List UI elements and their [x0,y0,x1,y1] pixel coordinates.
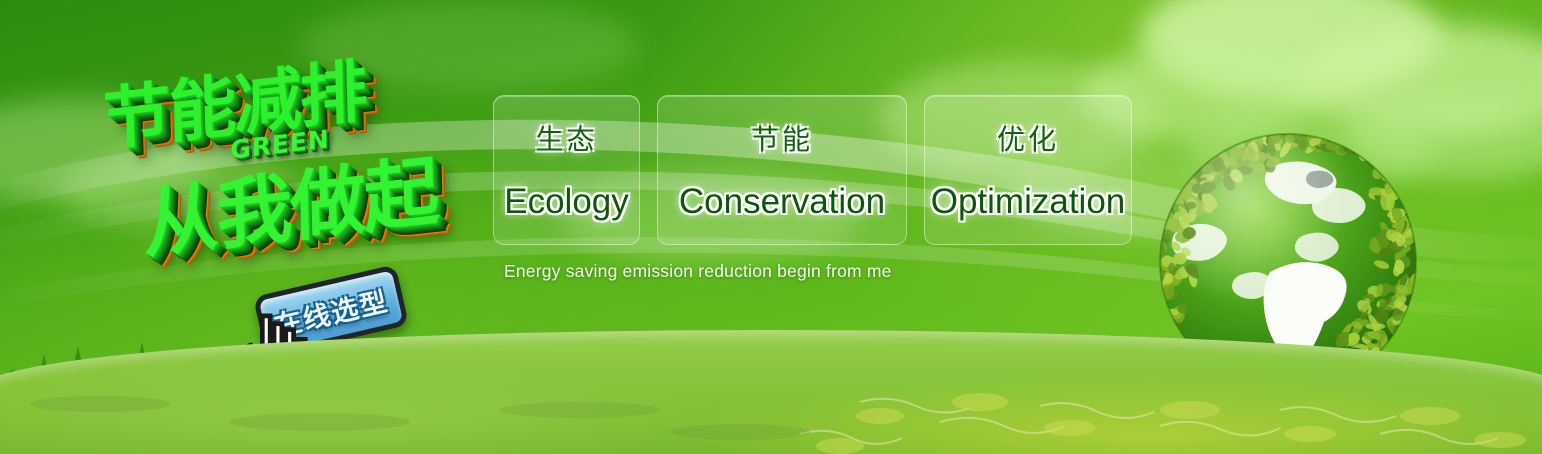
banner-tagline: Energy saving emission reduction begin f… [504,261,892,282]
feature-card-ecology[interactable]: 生态 Ecology [493,95,640,245]
feature-card-list: 生态 Ecology 节能 Conservation 优化 Optimizati… [493,95,1132,245]
feature-card-title-cn: 优化 [997,118,1059,158]
feature-card-title-en: Optimization [931,182,1126,222]
feature-card-title-en: Conservation [679,182,885,222]
cloud-shape [1290,24,1542,136]
eco-promo-banner: 节能减排 GREEN 从我做起 在线选型 生态 Ecology 节能 Conse… [0,0,1542,454]
feature-card-conservation[interactable]: 节能 Conservation [657,95,907,245]
feature-card-title-cn: 生态 [535,118,597,158]
hero-title-artwork: 节能减排 GREEN 从我做起 [88,34,488,274]
grass-field [0,330,1542,454]
feature-card-title-cn: 节能 [751,118,813,158]
feature-card-optimization[interactable]: 优化 Optimization [924,95,1132,245]
feature-card-title-en: Ecology [504,182,629,222]
cloud-shape [1140,0,1440,100]
